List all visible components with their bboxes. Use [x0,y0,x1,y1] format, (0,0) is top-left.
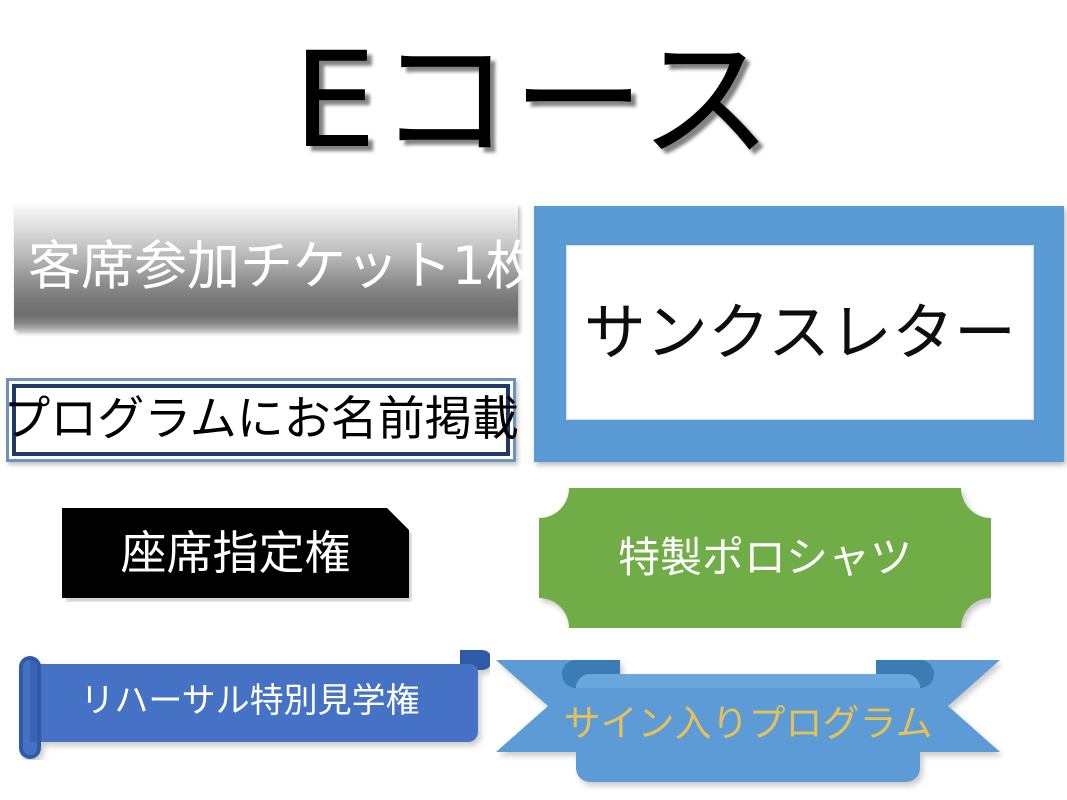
shape-rehearsal-viewing-right-label: リハーサル特別見学権 [38,662,462,740]
shape-program-name-listing[interactable]: プログラムにお名前掲載 [6,378,516,462]
shape-thanks-letter[interactable]: サンクスレター [534,206,1064,462]
shape-rehearsal-viewing-right[interactable]: リハーサル特別見学権 [8,648,490,760]
shape-thanks-letter-label: サンクスレター [584,300,1016,366]
page-title: Eコース [0,26,1067,176]
slide-canvas: Eコース 客席参加チケット1枚 サンクスレター プログラムにお名前掲載 座席指定… [0,0,1067,800]
shape-signed-program-label: サイン入りプログラム [572,676,924,772]
shape-program-name-listing-label: プログラムにお名前掲載 [3,395,519,445]
shape-thanks-letter-inner: サンクスレター [566,245,1034,420]
shape-audience-ticket-label: 客席参加チケット1枚 [14,239,539,295]
shape-signed-program[interactable]: サイン入りプログラム [492,646,1004,792]
shape-program-name-listing-inner: プログラムにお名前掲載 [12,384,510,456]
shape-seat-selection-right[interactable]: 座席指定権 [62,508,409,598]
shape-audience-ticket[interactable]: 客席参加チケット1枚 [14,204,518,330]
shape-special-polo-shirt[interactable]: 特製ポロシャツ [539,488,991,628]
shape-seat-selection-right-label: 座席指定権 [121,528,351,578]
shape-special-polo-shirt-label: 特製ポロシャツ [539,488,991,628]
